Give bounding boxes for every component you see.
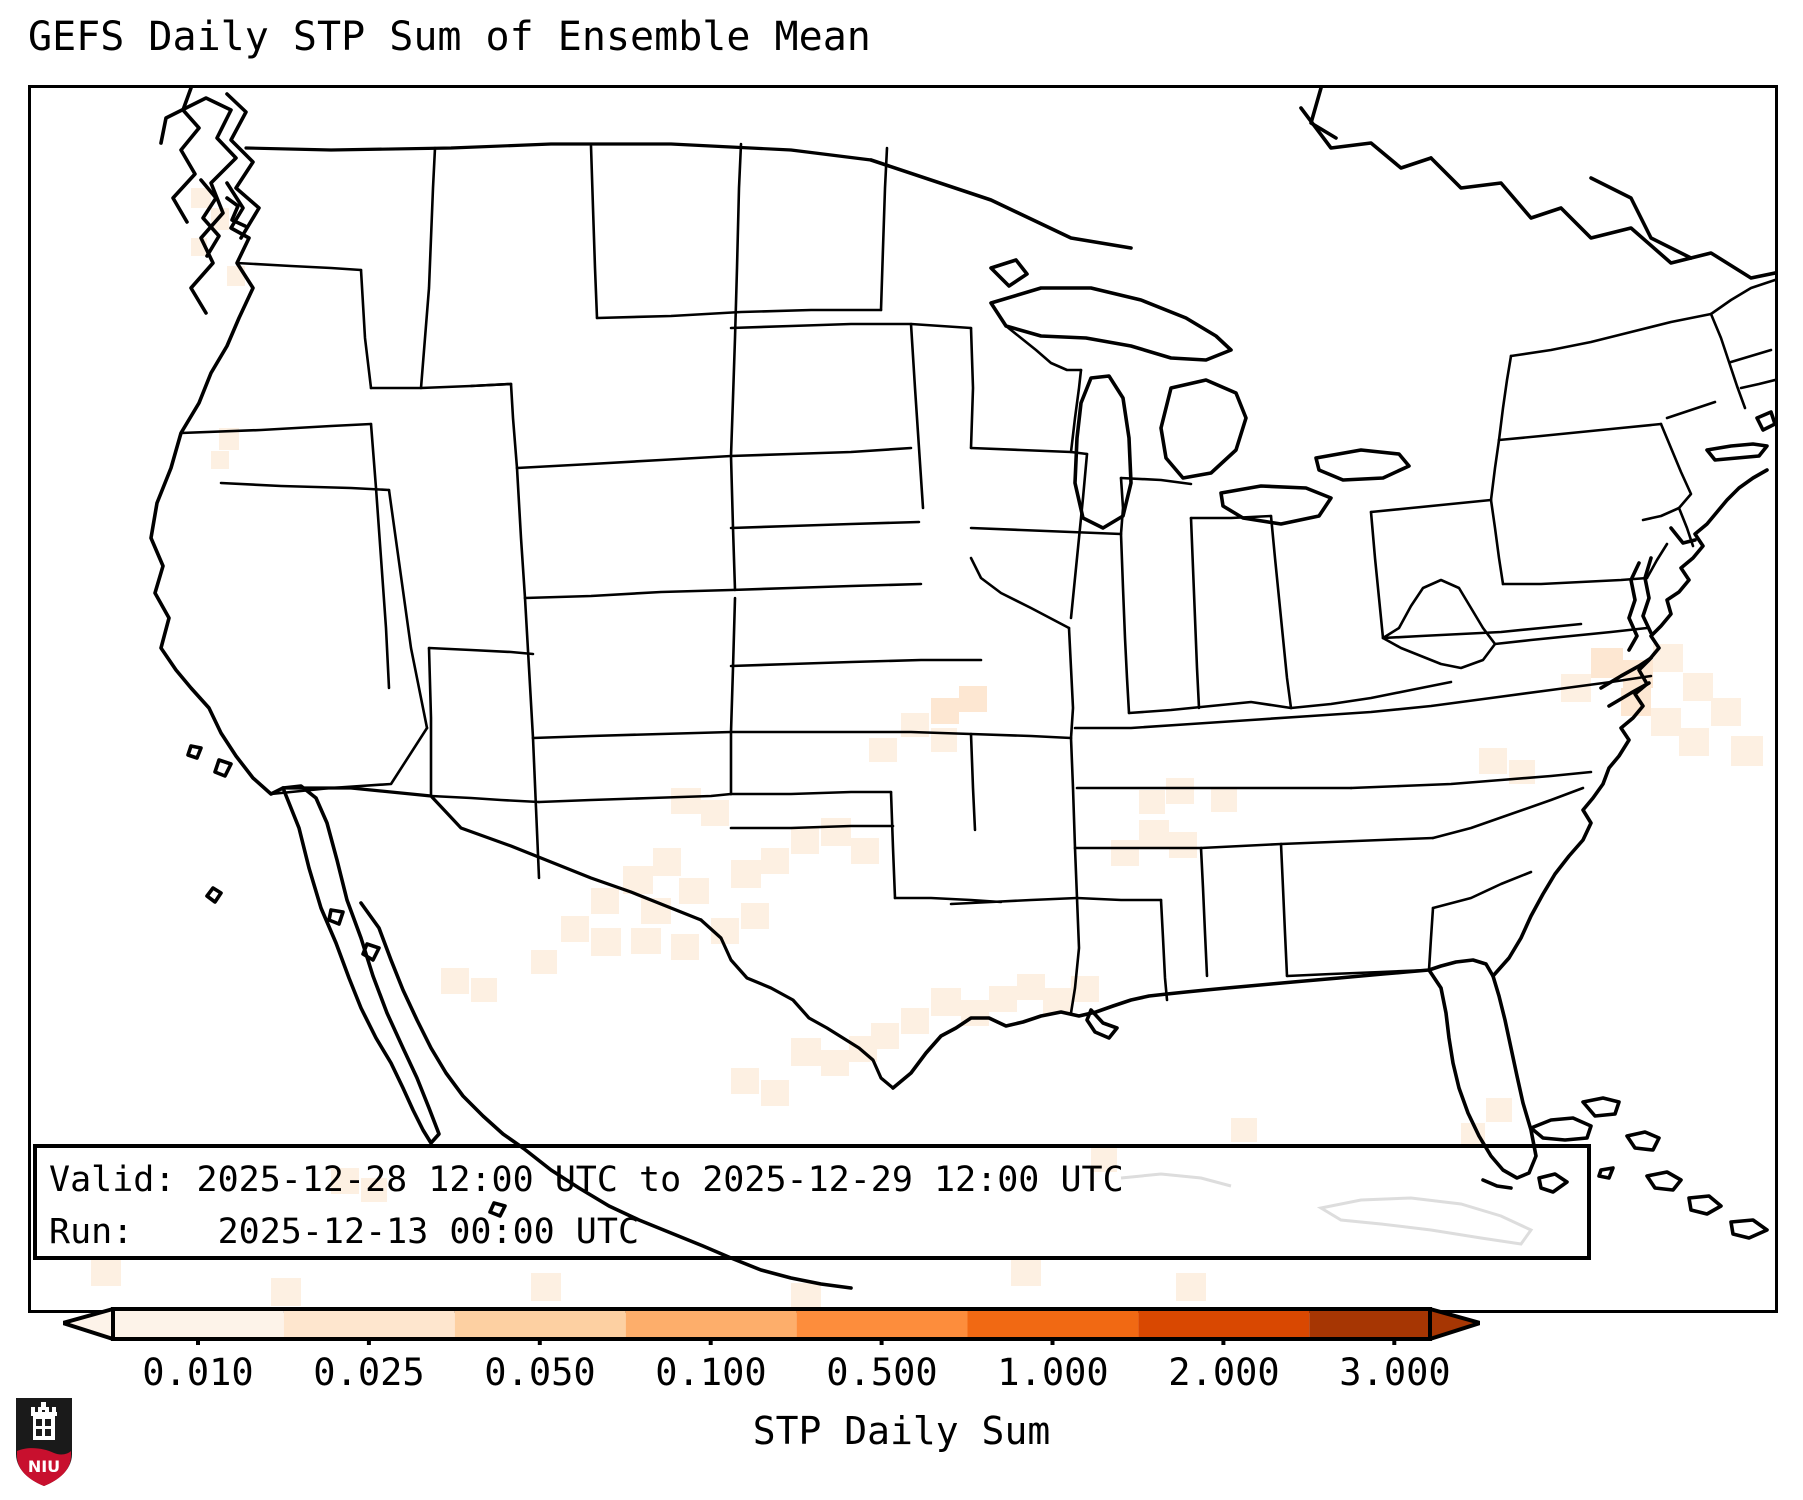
- colorbar: 0.010 0.025 0.050 0.100 0.500 1.000 2.00…: [0, 1295, 1803, 1500]
- cb-tick-5: 1.000: [997, 1351, 1108, 1394]
- niu-logo: NIU: [14, 1396, 74, 1488]
- colorbar-gradient: [63, 1305, 1480, 1345]
- cb-tick-3: 0.100: [655, 1351, 766, 1394]
- cb-tick-0: 0.010: [142, 1351, 253, 1394]
- cb-tick-6: 2.000: [1168, 1351, 1279, 1394]
- cb-tick-4: 0.500: [826, 1351, 937, 1394]
- map-canvas: .bdy { fill:none; stroke:#000; stroke-wi…: [31, 88, 1775, 1310]
- colorbar-bands: [63, 1309, 1480, 1339]
- valid-time-line: Valid: 2025-12-28 12:00 UTC to 2025-12-2…: [49, 1154, 1575, 1206]
- colorbar-axis-label: STP Daily Sum: [0, 1409, 1803, 1453]
- valid-run-info-box: Valid: 2025-12-28 12:00 UTC to 2025-12-2…: [33, 1144, 1591, 1260]
- colorbar-tick-labels: 0.010 0.025 0.050 0.100 0.500 1.000 2.00…: [0, 1351, 1803, 1397]
- cb-tick-1: 0.025: [313, 1351, 424, 1394]
- page-title: GEFS Daily STP Sum of Ensemble Mean: [28, 14, 871, 60]
- cb-tick-2: 0.050: [484, 1351, 595, 1394]
- niu-logo-text: NIU: [28, 1457, 60, 1476]
- map-axes-frame: .bdy { fill:none; stroke:#000; stroke-wi…: [28, 85, 1778, 1313]
- cb-tick-7: 3.000: [1339, 1351, 1450, 1394]
- run-time-line: Run: 2025-12-13 00:00 UTC: [49, 1206, 1575, 1258]
